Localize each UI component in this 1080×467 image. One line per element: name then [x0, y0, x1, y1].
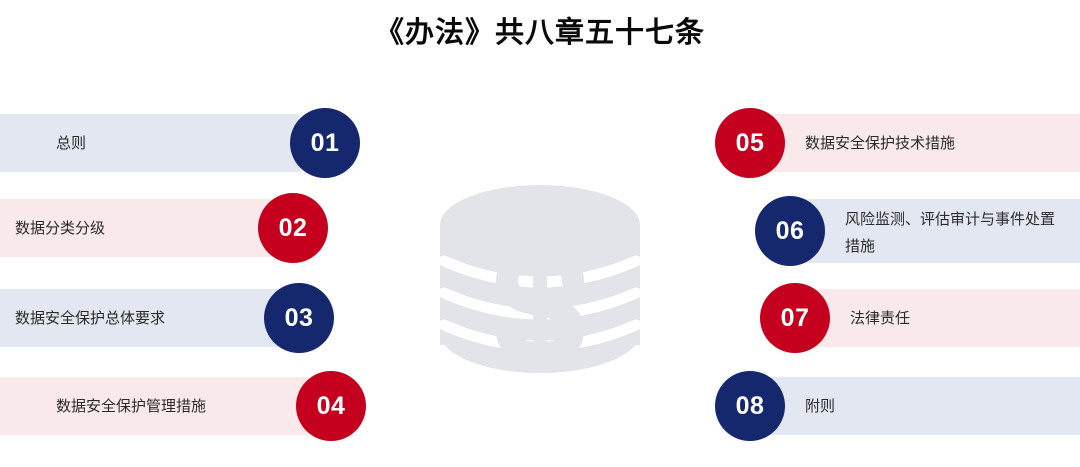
chapter-row-04[interactable]: 数据安全保护管理措施 04 — [0, 377, 368, 435]
chapter-row-07[interactable]: 法律责任 07 — [760, 289, 1080, 347]
chapter-number-badge-04[interactable]: 04 — [296, 371, 366, 441]
chapter-row-01[interactable]: 总则 01 — [0, 114, 360, 172]
chapter-number-badge-06[interactable]: 06 — [755, 196, 825, 266]
chapter-number-badge-05[interactable]: 05 — [715, 108, 785, 178]
chapter-row-02[interactable]: 数据分类分级 02 — [0, 199, 332, 257]
database-dollar-icon — [428, 183, 652, 405]
chapter-bar-01 — [0, 114, 300, 172]
chapter-label-06: 风险监测、评估审计与事件处置措施 — [845, 206, 1067, 260]
chapter-number-badge-02[interactable]: 02 — [258, 193, 328, 263]
chapter-number-badge-03[interactable]: 03 — [264, 283, 334, 353]
chapter-bar-07 — [788, 289, 1080, 347]
chapter-bar-08 — [743, 377, 1080, 435]
chapter-number-badge-08[interactable]: 08 — [715, 371, 785, 441]
chapter-row-08[interactable]: 附则 08 — [715, 377, 1080, 435]
page-title: 《办法》共八章五十七条 — [0, 11, 1080, 55]
chapter-label-05: 数据安全保护技术措施 — [805, 130, 955, 157]
chapter-label-01: 总则 — [56, 130, 86, 157]
chapter-number-badge-07[interactable]: 07 — [760, 283, 830, 353]
chapter-label-04: 数据安全保护管理措施 — [56, 393, 206, 420]
chapter-label-07: 法律责任 — [850, 305, 910, 332]
chapter-row-05[interactable]: 数据安全保护技术措施 05 — [715, 114, 1080, 172]
chapter-row-03[interactable]: 数据安全保护总体要求 03 — [0, 289, 338, 347]
chapter-label-08: 附则 — [805, 393, 835, 420]
chapter-number-badge-01[interactable]: 01 — [290, 108, 360, 178]
chapter-row-06[interactable]: 风险监测、评估审计与事件处置措施 06 — [755, 199, 1080, 263]
chapter-label-03: 数据安全保护总体要求 — [15, 305, 165, 332]
chapter-label-02: 数据分类分级 — [15, 215, 105, 242]
